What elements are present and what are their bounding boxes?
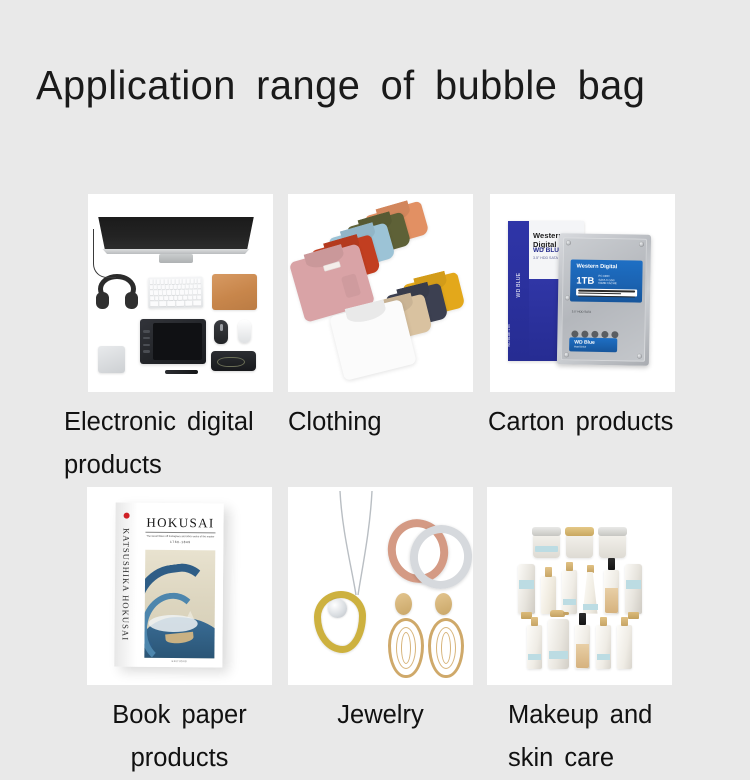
cosmetics-row-bottom (499, 614, 660, 669)
product-cell-makeup-and-skin-care[interactable]: Makeup and skin care (487, 487, 708, 780)
cosmetics-row-middle (499, 558, 660, 613)
product-caption-makeup-and-skin-care: Makeup and skin care (508, 694, 708, 780)
hokusai-book-scene: KATSUSHIKA HOKUSAI HOKUSAI The Great Wav… (87, 487, 272, 685)
electronics-flatlay-scene (88, 194, 273, 392)
product-grid: Electronic digital products (0, 0, 750, 750)
product-caption-clothing: Clothing (288, 401, 473, 444)
folded-shirts-scene (288, 194, 473, 392)
monitor-stand (159, 254, 193, 263)
mouse-white-icon (238, 320, 251, 343)
lotion-bottle (562, 570, 577, 614)
foundation-bottle-tall (575, 625, 590, 669)
book-spine-title: KATSUSHIKA HOKUSAI (121, 528, 132, 641)
product-image-carton-products: WD BLUE Western Digital WD BLUE 3.5" HDD… (490, 194, 675, 392)
mouse-dark-icon (214, 320, 228, 344)
cream-jar-gold (566, 534, 593, 558)
hdd-fineprint: 3.5" HDD SATA (572, 309, 636, 314)
product-image-clothing (288, 194, 473, 392)
cream-tube-right (625, 564, 642, 614)
box-model-sub-label: 3.5" HDD SATA (533, 256, 558, 260)
external-drive-icon (98, 346, 125, 373)
book-subtitle: The Great Wave off Kanagawa and other wo… (145, 534, 215, 538)
book-spine: KATSUSHIKA HOKUSAI (114, 503, 137, 667)
product-cell-clothing[interactable]: Clothing (288, 194, 473, 444)
essence-bottle (596, 625, 611, 669)
product-cell-carton-products[interactable]: WD BLUE Western Digital WD BLUE 3.5" HDD… (490, 194, 708, 444)
cosmetics-row-top (499, 503, 660, 558)
headphone-cable (93, 229, 116, 278)
mist-bottle (617, 625, 632, 669)
great-wave-artwork (144, 550, 215, 659)
product-cell-book-paper-products[interactable]: KATSUSHIKA HOKUSAI HOKUSAI The Great Wav… (87, 487, 272, 780)
product-caption-electronic-digital-products: Electronic digital products (64, 401, 296, 487)
hdd-footer-badge: WD Blue Hard Drive (569, 337, 617, 352)
hdd-brand-label: Western Digital (577, 264, 618, 271)
box-spine-text: WD BLUE (516, 273, 522, 298)
earring-right (428, 593, 458, 678)
product-cell-jewelry[interactable]: Jewelry (288, 487, 473, 737)
mouse-pad (212, 274, 257, 310)
book-date: 1760-1849 (145, 540, 215, 545)
book-cover: HOKUSAI The Great Wave off Kanagawa and … (136, 503, 223, 668)
cosmetics-scene (487, 487, 672, 685)
box-spine: WD BLUE (508, 221, 529, 361)
hard-drive-scene: WD BLUE Western Digital WD BLUE 3.5" HDD… (490, 194, 675, 392)
hard-disk-drive: Western Digital 1TB PC HDD SATA 6 Gb/s 6… (557, 233, 651, 366)
hdd-barcode (576, 289, 637, 297)
hdd-label: Western Digital 1TB PC HDD SATA 6 Gb/s 6… (570, 259, 643, 302)
cone-tube (583, 572, 598, 614)
publisher-dot-icon (124, 513, 130, 519)
product-image-book-paper-products: KATSUSHIKA HOKUSAI HOKUSAI The Great Wav… (87, 487, 272, 685)
keyboard-icon (148, 277, 204, 309)
book-title: HOKUSAI (145, 515, 215, 534)
box-footer-label: WD BLUE 1TB (507, 324, 511, 347)
hardcover-book: KATSUSHIKA HOKUSAI HOKUSAI The Great Wav… (114, 503, 223, 668)
toner-bottle (527, 625, 542, 669)
cream-jar-open (533, 534, 560, 558)
hdd-capacity-label: 1TB (576, 276, 594, 287)
earring-left (388, 593, 418, 678)
necklace-chain-icon (326, 491, 386, 603)
product-caption-carton-products: Carton products (488, 401, 708, 444)
hdd-meta-label: PC HDD SATA 6 Gb/s 64MB CACHE (598, 275, 617, 286)
product-image-makeup-and-skin-care (487, 487, 672, 685)
accessory-pouch-icon (211, 351, 256, 371)
book-publisher-mark: EDITIONS (172, 660, 187, 663)
product-image-jewelry (288, 487, 473, 685)
shirt-label (323, 261, 341, 271)
serum-dropper (541, 576, 556, 614)
jewelry-scene (288, 487, 473, 685)
product-cell-electronic-digital-products[interactable]: Electronic digital products (88, 194, 296, 487)
drawing-tablet-icon (140, 319, 206, 364)
pendant-icon (314, 591, 366, 653)
product-caption-jewelry: Jewelry (288, 694, 473, 737)
product-caption-book-paper-products: Book paper products (87, 694, 272, 780)
cream-jar-large (599, 534, 626, 558)
product-image-electronic-digital-products (88, 194, 273, 392)
pump-bottle (548, 619, 569, 669)
page-root: Application range of bubble bag (0, 0, 750, 750)
stylus-icon (165, 370, 198, 374)
cream-tube-left (518, 564, 535, 614)
headphones-icon (96, 274, 138, 314)
foundation-bottle (604, 570, 619, 614)
monitor-icon (95, 217, 257, 249)
